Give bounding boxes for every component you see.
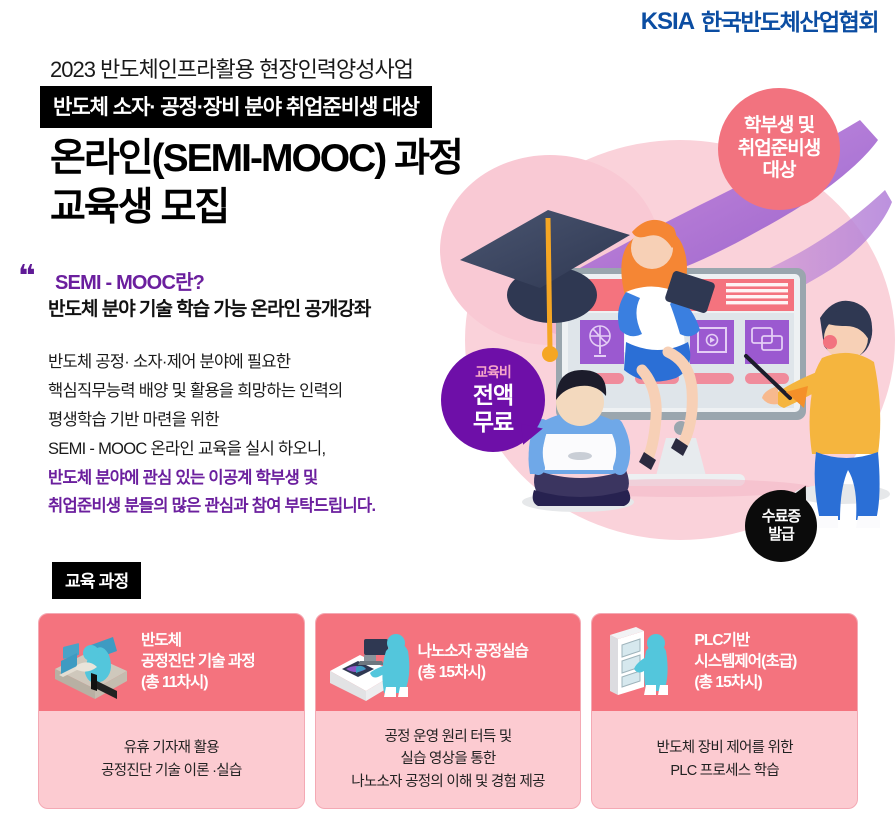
course-card[interactable]: PLC기반 시스템제어(초급) (총 15차시) 반도체 장비 제어를 위한 P… bbox=[591, 613, 858, 809]
body-line-1: 반도체 공정· 소자·제어 분야에 필요한 bbox=[48, 348, 375, 377]
quote-mark-icon: ❝ bbox=[18, 262, 36, 292]
course-title: 반도체 공정진단 기술 과정 (총 11차시) bbox=[141, 631, 255, 694]
badge-line-2: 무료 bbox=[473, 409, 513, 436]
course-title: PLC기반 시스템제어(초급) (총 15차시) bbox=[694, 631, 796, 694]
kicker-text: 2023 반도체인프라활용 현장인력양성사업 bbox=[50, 52, 413, 84]
page-title: 온라인(SEMI-MOOC) 과정 교육생 모집 bbox=[50, 135, 462, 233]
badge-target-audience: 학부생 및 취업준비생 대상 bbox=[718, 88, 840, 210]
logo-mark: KSIA bbox=[641, 10, 694, 34]
body-line-2: 핵심직무능력 배양 및 활용을 희망하는 인력의 bbox=[48, 377, 375, 406]
course-description: 유휴 기자재 활용 공정진단 기술 이론 ·실습 bbox=[39, 711, 304, 808]
quote-subtitle: 반도체 분야 기술 학습 가능 온라인 공개강좌 bbox=[48, 294, 370, 321]
course-card[interactable]: 나노소자 공정실습 (총 15차시) 공정 운영 원리 터득 및 실습 영상을 … bbox=[315, 613, 582, 809]
badge-line-3: 대상 bbox=[763, 160, 796, 182]
course-card[interactable]: 반도체 공정진단 기술 과정 (총 11차시) 유휴 기자재 활용 공정진단 기… bbox=[38, 613, 305, 809]
body-line-3: 평생학습 기반 마련을 위한 bbox=[48, 406, 375, 435]
quote-title: SEMI - MOOC란? bbox=[55, 266, 204, 295]
process-equipment-icon bbox=[324, 625, 412, 701]
control-cabinet-icon bbox=[600, 625, 688, 701]
badge-line-1: 전액 bbox=[473, 382, 513, 409]
badge-line-1: 수료증 bbox=[762, 508, 800, 526]
course-description: 반도체 장비 제어를 위한 PLC 프로세스 학습 bbox=[592, 711, 857, 808]
body-line-4: SEMI - MOOC 온라인 교육을 실시 하오니, bbox=[48, 435, 375, 464]
badge-certificate: 수료증 발급 bbox=[745, 490, 817, 562]
course-description: 공정 운영 원리 터득 및 실습 영상을 통한 나노소자 공정의 이해 및 경험… bbox=[316, 711, 581, 808]
course-card-list: 반도체 공정진단 기술 과정 (총 11차시) 유휴 기자재 활용 공정진단 기… bbox=[38, 613, 858, 809]
body-copy: 반도체 공정· 소자·제어 분야에 필요한 핵심직무능력 배양 및 활용을 희망… bbox=[48, 348, 375, 521]
section-tag-courses: 교육 과정 bbox=[52, 562, 141, 599]
course-card-header: PLC기반 시스템제어(초급) (총 15차시) bbox=[592, 614, 857, 711]
body-line-5: 반도체 분야에 관심 있는 이공계 학부생 및 bbox=[48, 464, 375, 493]
body-line-6: 취업준비생 분들의 많은 관심과 참여 부탁드립니다. bbox=[48, 492, 375, 521]
desk-workstation-icon bbox=[47, 625, 135, 701]
badge-line-2: 발급 bbox=[768, 526, 794, 544]
target-bar: 반도체 소자· 공정·장비 분야 취업준비생 대상 bbox=[40, 86, 432, 128]
badge-line-2: 취업준비생 bbox=[738, 138, 820, 160]
poster-root: KSIA 한국반도체산업협회 2023 반도체인프라활용 현장인력양성사업 반도… bbox=[0, 0, 896, 824]
badge-small-label: 교육비 bbox=[475, 364, 511, 381]
ksia-logo: KSIA 한국반도체산업협회 bbox=[641, 10, 878, 34]
badge-free-tuition: 교육비 전액 무료 bbox=[441, 348, 545, 452]
course-card-header: 나노소자 공정실습 (총 15차시) bbox=[316, 614, 581, 711]
course-card-header: 반도체 공정진단 기술 과정 (총 11차시) bbox=[39, 614, 304, 711]
badge-tail bbox=[517, 424, 543, 448]
course-title: 나노소자 공정실습 (총 15차시) bbox=[418, 642, 528, 684]
badge-line-1: 학부생 및 bbox=[744, 115, 814, 137]
logo-name: 한국반도체산업협회 bbox=[701, 11, 878, 34]
